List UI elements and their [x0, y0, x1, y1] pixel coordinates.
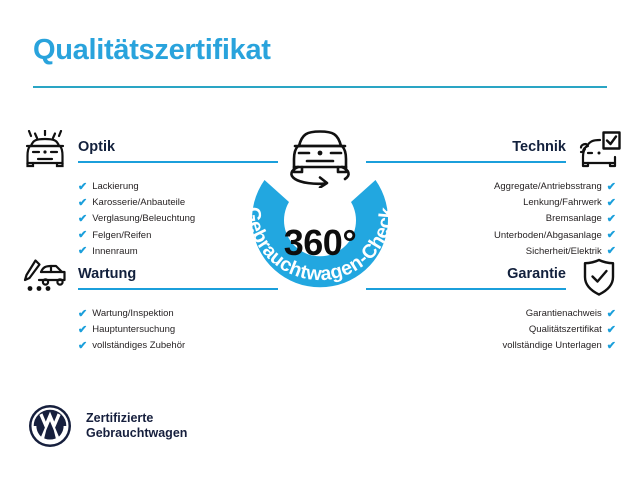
check-icon: ✔ [78, 182, 87, 193]
volkswagen-logo [28, 404, 72, 448]
list-item: ✔Garantienachweis [366, 306, 622, 322]
check-icon: ✔ [78, 198, 87, 209]
list-item: ✔Hauptuntersuchung [22, 322, 278, 338]
check-icon: ✔ [78, 230, 87, 241]
check-icon: ✔ [78, 309, 87, 320]
check-icon: ✔ [78, 325, 87, 336]
list-item-label: Hauptuntersuchung [92, 322, 175, 338]
list-item: ✔Qualitätszertifikat [366, 322, 622, 338]
check-icon: ✔ [607, 341, 616, 352]
section-wartung-list: ✔Wartung/Inspektion ✔Hauptuntersuchung ✔… [22, 306, 278, 355]
check-icon: ✔ [607, 230, 616, 241]
list-item: ✔Wartung/Inspektion [22, 306, 278, 322]
footer-brand: Zertifizierte Gebrauchtwagen [28, 404, 187, 448]
check-icon: ✔ [607, 325, 616, 336]
list-item-label: Garantienachweis [526, 306, 602, 322]
certificate-page: Qualitätszertifikat Optik [0, 0, 640, 480]
list-item-label: Lackierung [92, 179, 138, 195]
list-item-label: Aggregate/Antriebsstrang [494, 179, 602, 195]
list-item-label: vollständige Unterlagen [502, 338, 601, 354]
badge-center-label: 360° [231, 222, 409, 264]
check-icon: ✔ [78, 341, 87, 352]
list-item-label: Karosserie/Anbauteile [92, 195, 185, 211]
car-shine-icon [22, 130, 68, 170]
footer-brand-text: Zertifizierte Gebrauchtwagen [86, 411, 187, 442]
check-icon: ✔ [607, 309, 616, 320]
check-icon: ✔ [78, 214, 87, 225]
car-front-rotation-icon [281, 122, 359, 188]
title-divider [33, 86, 607, 88]
list-item: ✔vollständiges Zubehör [22, 338, 278, 354]
section-garantie-list: ✔Garantienachweis ✔Qualitätszertifikat ✔… [366, 306, 622, 355]
check-icon: ✔ [607, 214, 616, 225]
car-checkbox-icon [576, 130, 622, 170]
list-item-label: Verglasung/Beleuchtung [92, 211, 195, 227]
check-icon: ✔ [607, 198, 616, 209]
list-item-label: Felgen/Reifen [92, 228, 151, 244]
list-item: ✔vollständige Unterlagen [366, 338, 622, 354]
list-item-label: Bremsanlage [546, 211, 602, 227]
shield-check-icon [576, 257, 622, 297]
list-item-label: Wartung/Inspektion [92, 306, 174, 322]
list-item-label: Lenkung/Fahrwerk [523, 195, 602, 211]
list-item-label: Qualitätszertifikat [529, 322, 602, 338]
check-icon: ✔ [607, 246, 616, 257]
page-title: Qualitätszertifikat [33, 34, 271, 67]
check-icon: ✔ [607, 182, 616, 193]
service-pen-car-icon [22, 257, 68, 297]
badge-360-gebrauchtwagen-check: Gebrauchtwagen-Check 360° [231, 122, 409, 308]
footer-line-1: Zertifizierte [86, 411, 187, 427]
list-item-label: vollständiges Zubehör [92, 338, 185, 354]
footer-line-2: Gebrauchtwagen [86, 426, 187, 442]
list-item-label: Unterboden/Abgasanlage [494, 228, 602, 244]
check-icon: ✔ [78, 246, 87, 257]
